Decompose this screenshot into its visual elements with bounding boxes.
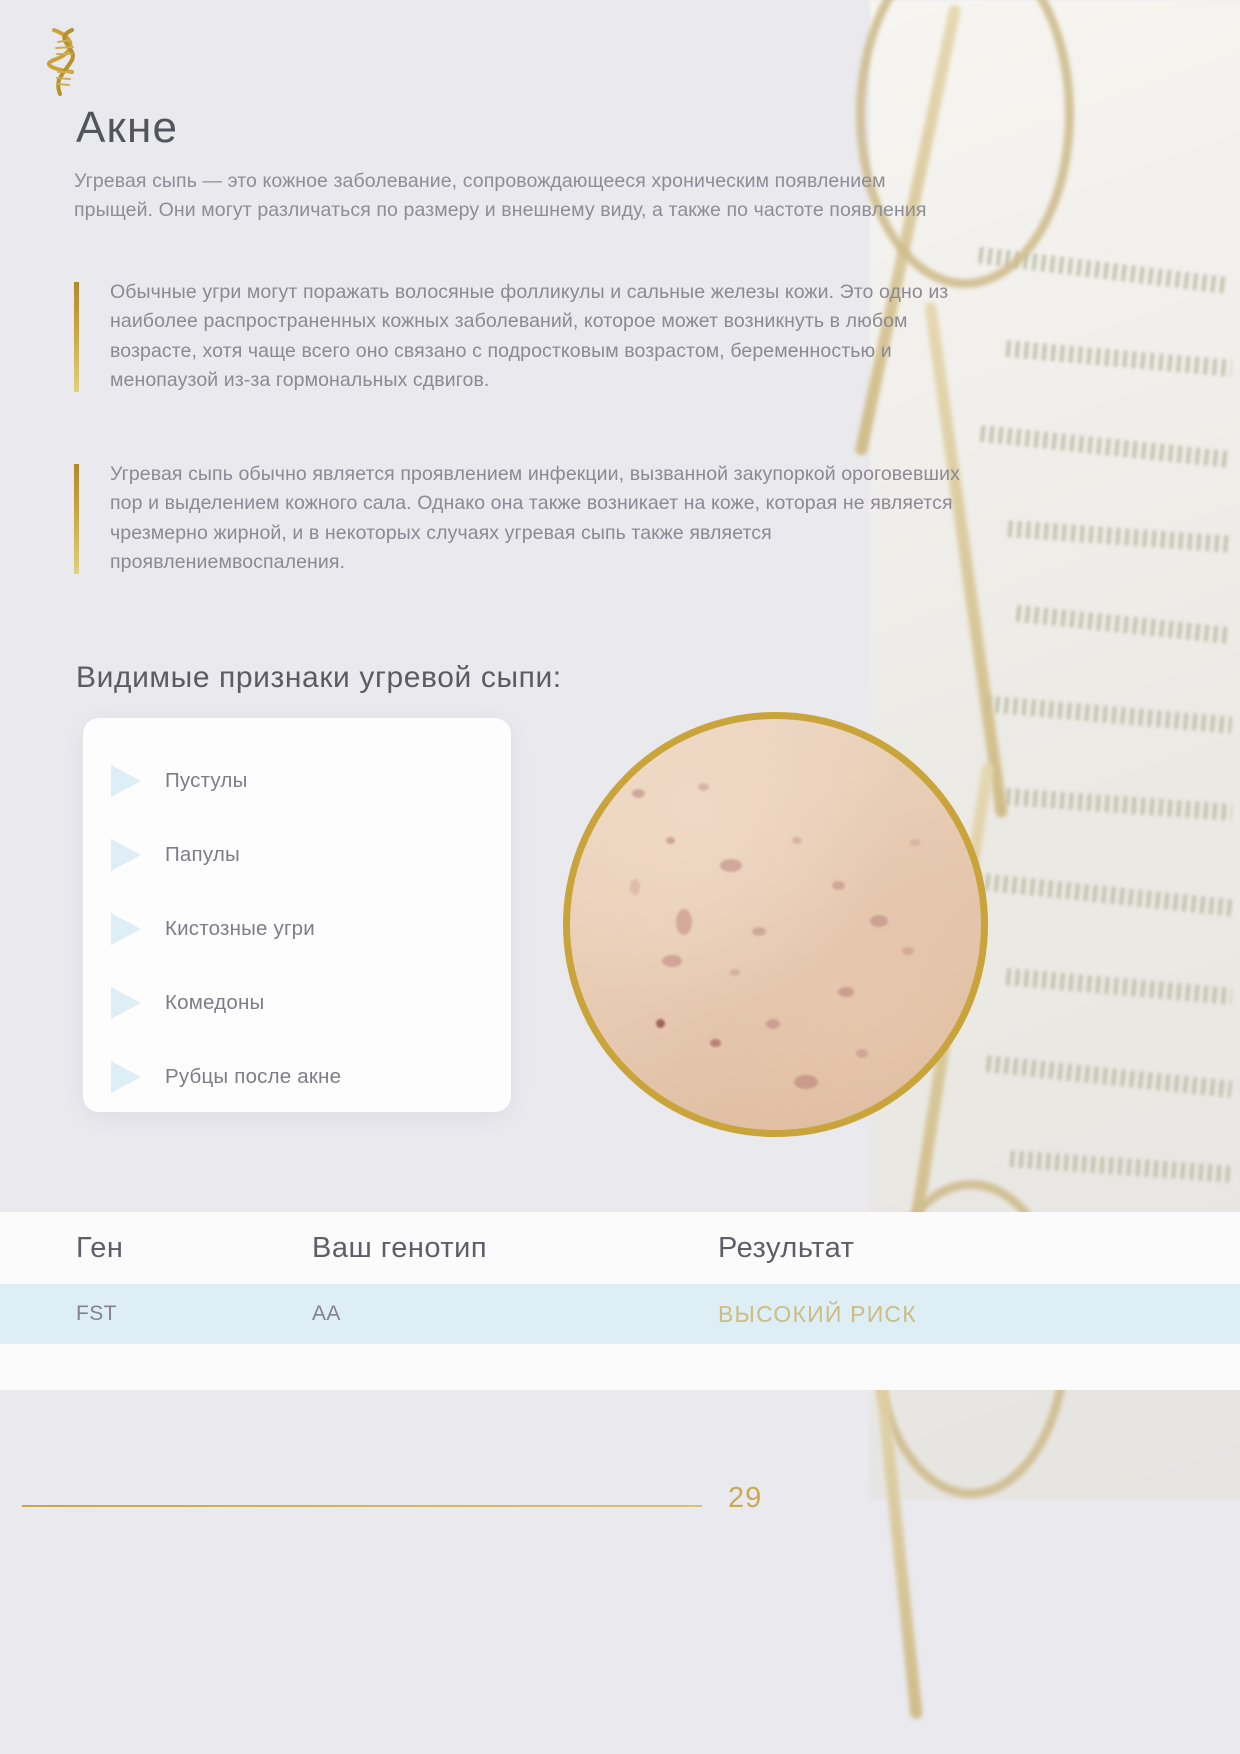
table-footer-spacer	[0, 1344, 1240, 1390]
list-item: Комедоны	[83, 966, 511, 1040]
symptom-list-card: Пустулы Папулы Кистозные угри Комедоны Р…	[83, 718, 511, 1112]
triangle-right-icon	[111, 839, 141, 871]
dna-helix-icon	[42, 26, 88, 98]
footer-divider	[22, 1505, 702, 1507]
symptom-label: Рубцы после акне	[165, 1065, 341, 1089]
list-item: Рубцы после акне	[83, 1040, 511, 1114]
acne-skin-closeup-photo	[563, 712, 988, 1137]
triangle-right-icon	[111, 987, 141, 1019]
triangle-right-icon	[111, 1061, 141, 1093]
symptom-label: Папулы	[165, 843, 240, 867]
symptom-label: Комедоны	[165, 991, 264, 1015]
symptom-label: Пустулы	[165, 769, 248, 793]
table-row: FST AA ВЫСОКИЙ РИСК	[0, 1284, 1240, 1344]
quote-block-1: Обычные угри могут поражать волосяные фо…	[74, 278, 980, 396]
cell-genotype: AA	[312, 1302, 718, 1326]
page-number: 29	[728, 1482, 762, 1515]
intro-paragraph: Угревая сыпь — это кожное заболевание, с…	[74, 167, 954, 225]
cell-gene: FST	[0, 1302, 312, 1326]
column-header-result: Результат	[718, 1232, 1240, 1265]
quote-block-2: Угревая сыпь обычно является проявлением…	[74, 460, 980, 578]
column-header-genotype: Ваш генотип	[312, 1232, 718, 1265]
list-item: Кистозные угри	[83, 892, 511, 966]
list-item: Папулы	[83, 818, 511, 892]
table-header-row: Ген Ваш генотип Результат	[0, 1212, 1240, 1284]
page-title: Акне	[76, 103, 178, 153]
list-item: Пустулы	[83, 744, 511, 818]
report-page: Акне Угревая сыпь — это кожное заболеван…	[0, 0, 1240, 1754]
symptom-label: Кистозные угри	[165, 917, 315, 941]
triangle-right-icon	[111, 765, 141, 797]
genotype-results-table: Ген Ваш генотип Результат FST AA ВЫСОКИЙ…	[0, 1212, 1240, 1390]
column-header-gene: Ген	[0, 1232, 312, 1265]
section-title-visible-signs: Видимые признаки угревой сыпи:	[76, 661, 562, 695]
cell-result-status: ВЫСОКИЙ РИСК	[718, 1301, 1240, 1328]
triangle-right-icon	[111, 913, 141, 945]
